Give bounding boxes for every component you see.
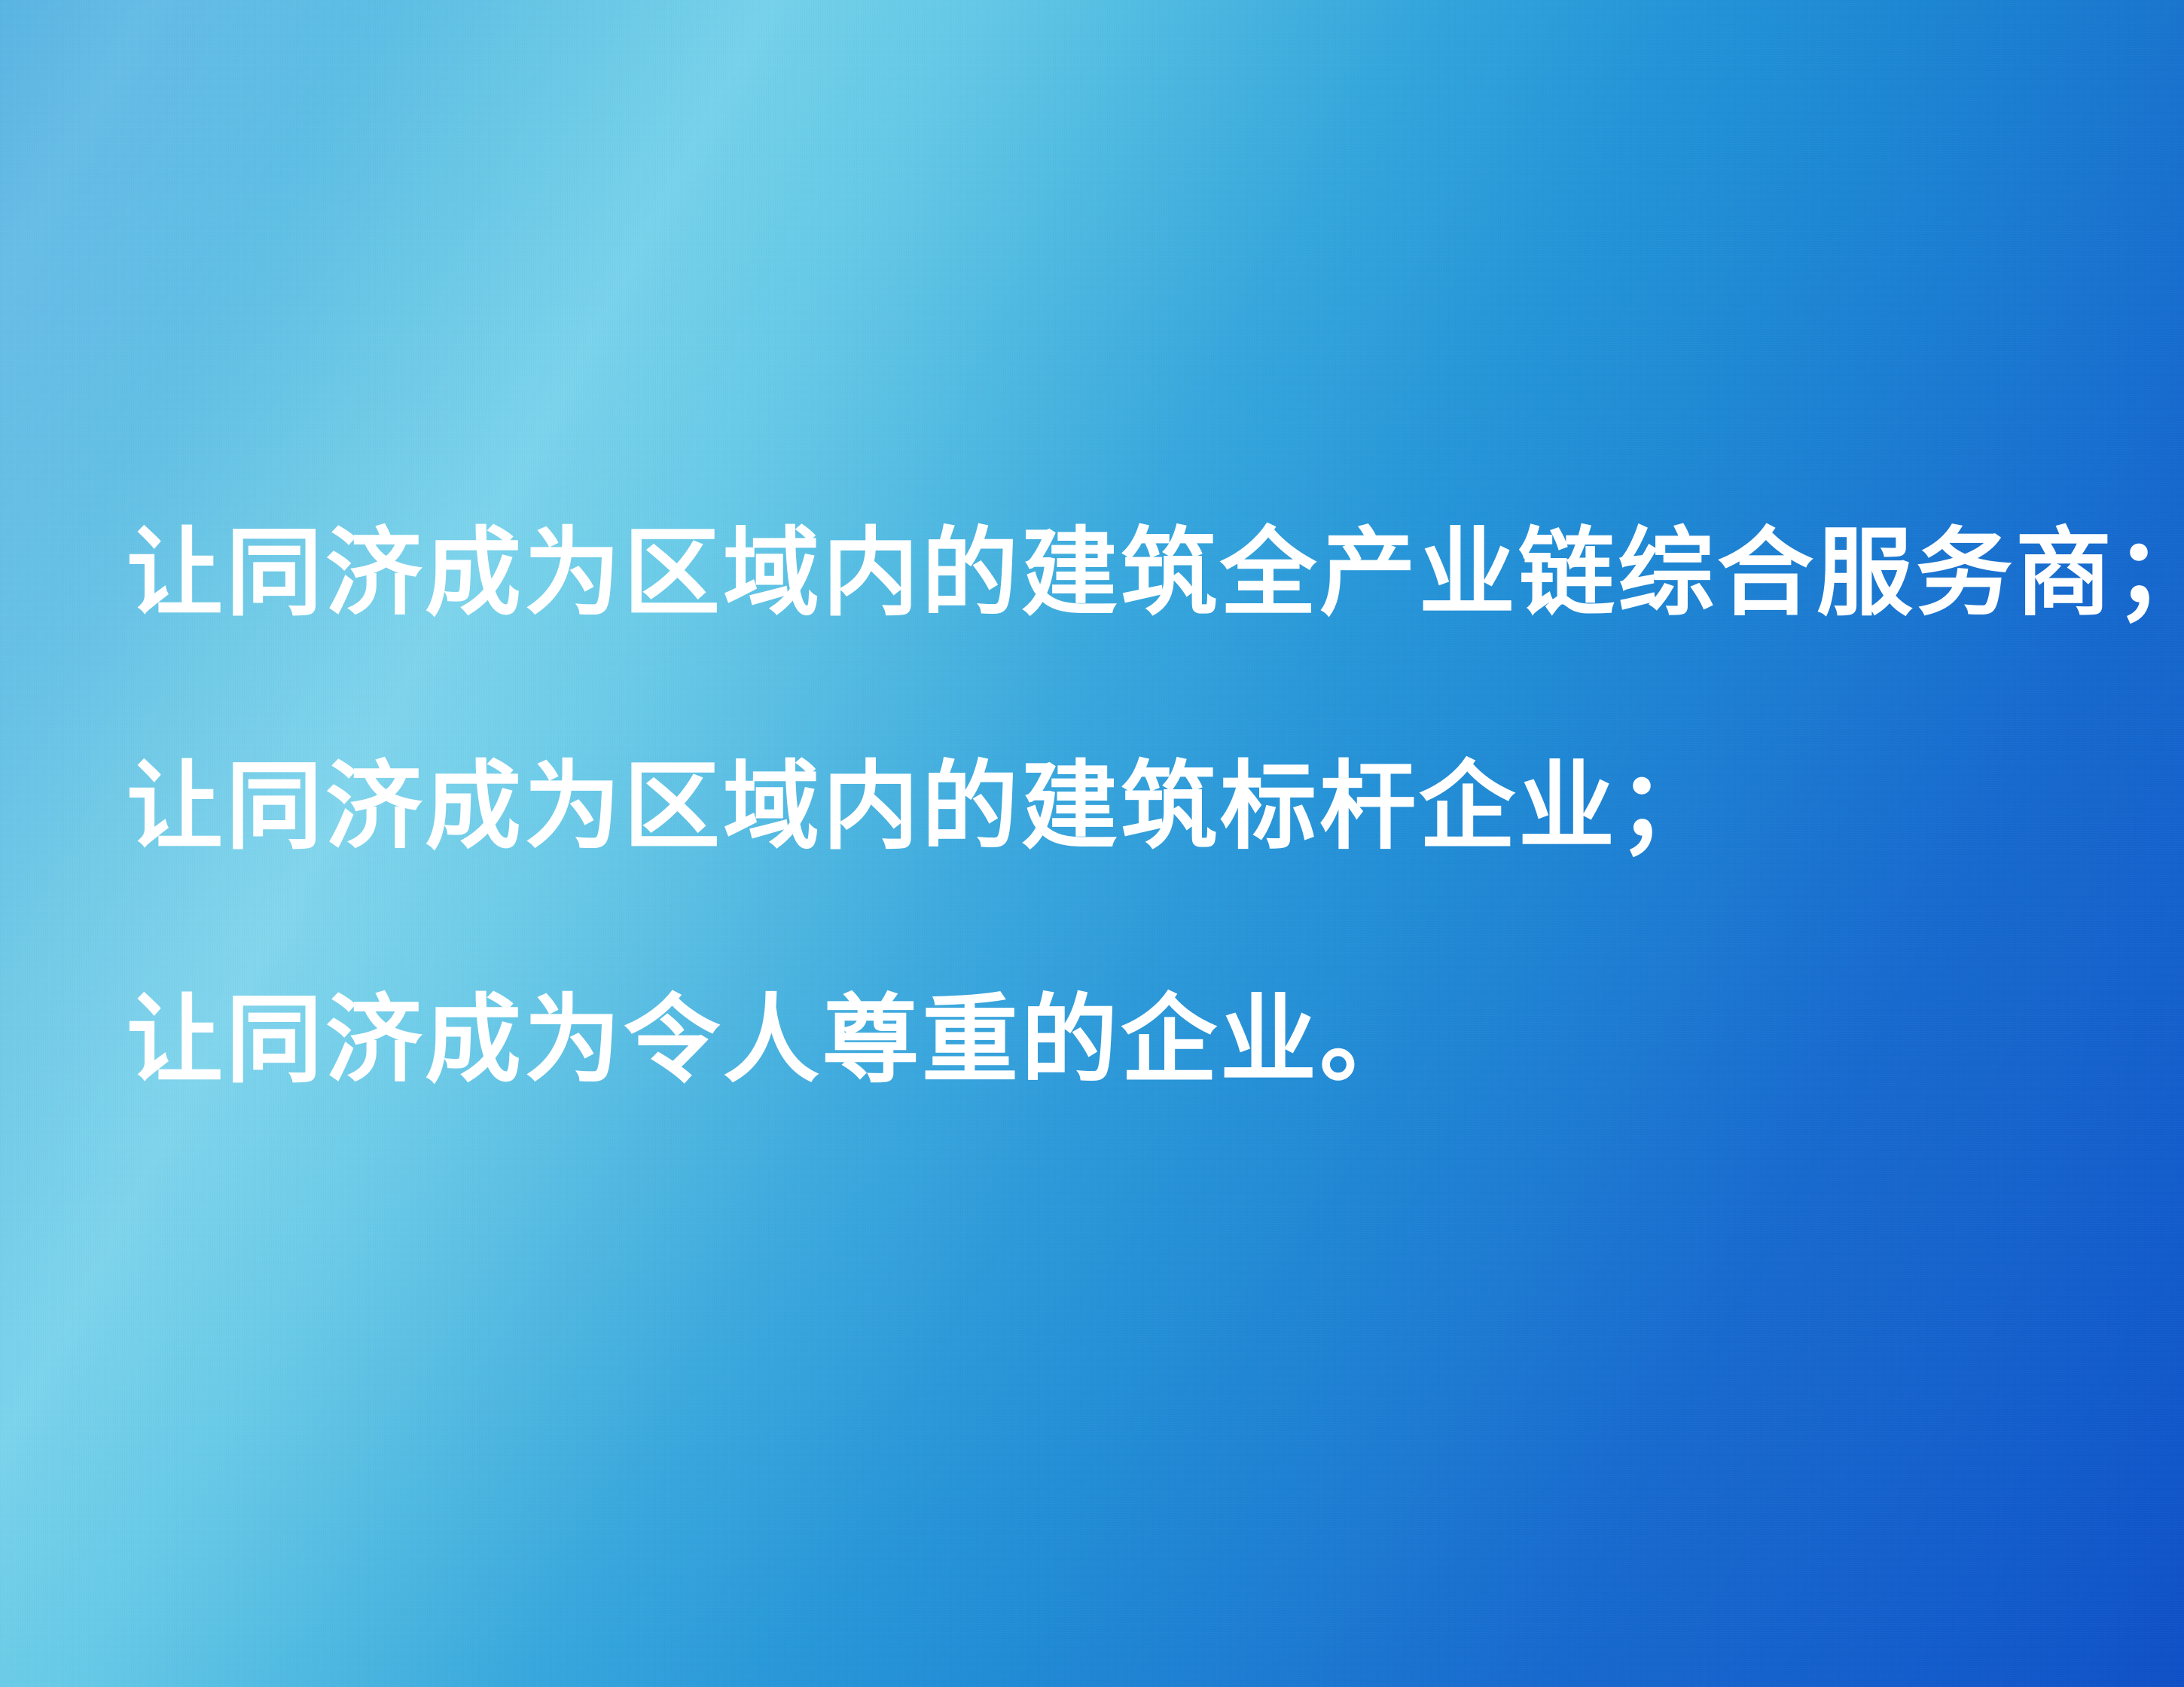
slide-line-2: 让同济成为区域内的建筑标杆企业； (127, 690, 2100, 923)
slide-line-1: 让同济成为区域内的建筑全产业链综合服务商； (127, 456, 2100, 690)
slide-canvas: 让同济成为区域内的建筑全产业链综合服务商； 让同济成为区域内的建筑标杆企业； 让… (0, 0, 2184, 1687)
slide-text-block: 让同济成为区域内的建筑全产业链综合服务商； 让同济成为区域内的建筑标杆企业； 让… (127, 456, 2100, 1157)
slide-line-3: 让同济成为令人尊重的企业。 (127, 923, 2100, 1157)
